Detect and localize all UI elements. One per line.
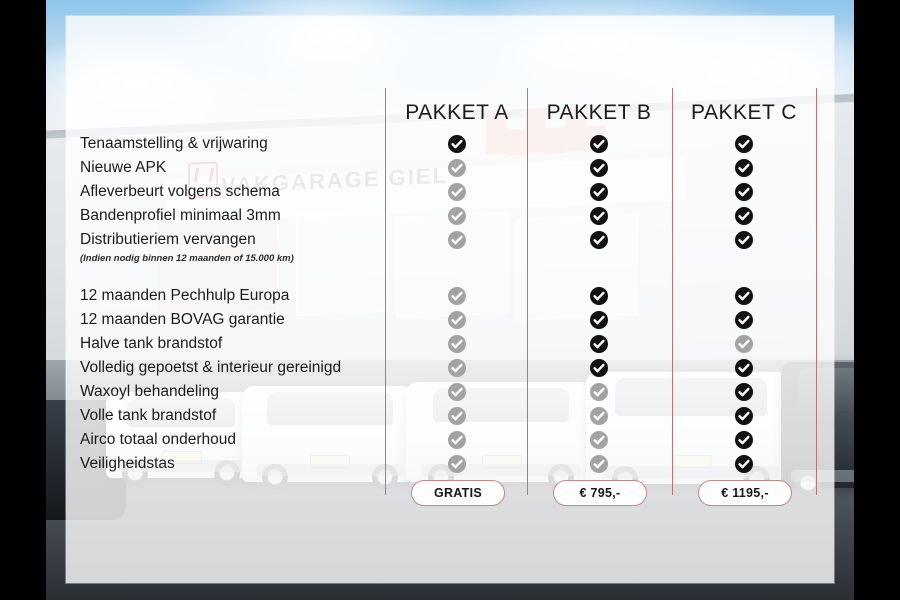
check-cell — [386, 332, 528, 356]
price-badge-pakket-b[interactable]: € 795,- — [553, 480, 647, 506]
check-cell — [673, 380, 815, 404]
spacer — [386, 265, 528, 284]
check-column-pakket-c — [673, 132, 815, 476]
spacer — [673, 252, 815, 265]
check-cell — [673, 180, 815, 204]
letterbox-right — [854, 0, 900, 600]
check-excluded-icon — [448, 431, 466, 449]
check-included-icon — [590, 231, 608, 249]
check-included-icon — [735, 159, 753, 177]
feature-label: Distributieriem vervangen — [80, 228, 380, 252]
check-cell — [673, 156, 815, 180]
check-excluded-icon — [590, 383, 608, 401]
check-cell — [673, 404, 815, 428]
check-excluded-icon — [448, 407, 466, 425]
check-excluded-icon — [448, 159, 466, 177]
check-excluded-icon — [735, 335, 753, 353]
check-cell — [528, 428, 670, 452]
check-excluded-icon — [448, 383, 466, 401]
check-cell — [528, 380, 670, 404]
check-included-icon — [590, 135, 608, 153]
spacer — [80, 265, 380, 284]
check-excluded-icon — [448, 287, 466, 305]
check-cell — [528, 180, 670, 204]
check-cell — [673, 308, 815, 332]
check-excluded-icon — [590, 407, 608, 425]
check-column-pakket-a — [386, 132, 528, 476]
column-divider — [816, 88, 817, 495]
feature-label: 12 maanden BOVAG garantie — [80, 308, 380, 332]
price-badge-pakket-c[interactable]: € 1195,- — [698, 480, 792, 506]
feature-label: Afleverbeurt volgens schema — [80, 180, 380, 204]
check-included-icon — [735, 311, 753, 329]
feature-label: Airco totaal onderhoud — [80, 428, 380, 452]
pricing-table-card: PAKKET A PAKKET B PAKKET C Tenaamstellin… — [66, 16, 834, 583]
check-cell — [528, 404, 670, 428]
spacer — [528, 265, 670, 284]
spacer — [673, 265, 815, 284]
check-cell — [386, 404, 528, 428]
check-excluded-icon — [448, 183, 466, 201]
check-cell — [673, 284, 815, 308]
check-cell — [673, 204, 815, 228]
column-header-pakket-c: PAKKET C — [673, 101, 815, 125]
check-included-icon — [735, 207, 753, 225]
check-cell — [386, 452, 528, 476]
check-included-icon — [735, 407, 753, 425]
feature-label: Waxoyl behandeling — [80, 380, 380, 404]
check-cell — [528, 204, 670, 228]
check-included-icon — [735, 431, 753, 449]
check-cell — [673, 228, 815, 252]
spacer — [386, 252, 528, 265]
check-cell — [528, 156, 670, 180]
check-cell — [386, 380, 528, 404]
check-column-pakket-b — [528, 132, 670, 476]
check-cell — [528, 228, 670, 252]
check-excluded-icon — [448, 231, 466, 249]
feature-label-note: (Indien nodig binnen 12 maanden of 15.00… — [80, 252, 380, 265]
check-cell — [528, 452, 670, 476]
check-excluded-icon — [448, 359, 466, 377]
column-header-pakket-a: PAKKET A — [386, 101, 528, 125]
check-excluded-icon — [448, 335, 466, 353]
check-included-icon — [590, 207, 608, 225]
feature-label: Nieuwe APK — [80, 156, 380, 180]
check-included-icon — [735, 287, 753, 305]
check-cell — [386, 180, 528, 204]
check-cell — [386, 428, 528, 452]
check-cell — [386, 284, 528, 308]
check-cell — [673, 428, 815, 452]
check-included-icon — [735, 135, 753, 153]
check-included-icon — [590, 159, 608, 177]
check-excluded-icon — [448, 311, 466, 329]
check-cell — [386, 308, 528, 332]
check-included-icon — [590, 335, 608, 353]
check-included-icon — [448, 135, 466, 153]
check-cell — [673, 132, 815, 156]
check-cell — [528, 284, 670, 308]
check-cell — [673, 356, 815, 380]
check-cell — [528, 132, 670, 156]
check-included-icon — [735, 455, 753, 473]
check-included-icon — [735, 359, 753, 377]
column-header-pakket-b: PAKKET B — [528, 101, 670, 125]
check-included-icon — [735, 183, 753, 201]
price-badge-pakket-a[interactable]: GRATIS — [411, 480, 505, 506]
feature-label: Volledig gepoetst & interieur gereinigd — [80, 356, 380, 380]
screenshot-stage: VAKGARAGE GIEL — [0, 0, 900, 600]
check-excluded-icon — [448, 455, 466, 473]
check-cell — [528, 308, 670, 332]
feature-label: Bandenprofiel minimaal 3mm — [80, 204, 380, 228]
check-cell — [386, 356, 528, 380]
package-comparison-table: PAKKET A PAKKET B PAKKET C Tenaamstellin… — [66, 16, 834, 583]
feature-label: Volle tank brandstof — [80, 404, 380, 428]
check-excluded-icon — [448, 207, 466, 225]
spacer — [528, 252, 670, 265]
check-included-icon — [590, 183, 608, 201]
check-included-icon — [590, 287, 608, 305]
check-excluded-icon — [590, 431, 608, 449]
check-cell — [528, 332, 670, 356]
feature-label: Veiligheidstas — [80, 452, 380, 476]
feature-label-column: Tenaamstelling & vrijwaringNieuwe APKAfl… — [80, 132, 380, 476]
check-cell — [386, 228, 528, 252]
letterbox-left — [0, 0, 46, 600]
check-cell — [528, 356, 670, 380]
check-cell — [386, 204, 528, 228]
check-cell — [673, 452, 815, 476]
feature-label: Halve tank brandstof — [80, 332, 380, 356]
check-included-icon — [590, 311, 608, 329]
feature-label: Tenaamstelling & vrijwaring — [80, 132, 380, 156]
check-cell — [386, 156, 528, 180]
check-cell — [386, 132, 528, 156]
check-included-icon — [735, 231, 753, 249]
check-cell — [673, 332, 815, 356]
feature-label: 12 maanden Pechhulp Europa — [80, 284, 380, 308]
check-excluded-icon — [590, 455, 608, 473]
check-included-icon — [590, 359, 608, 377]
check-included-icon — [735, 383, 753, 401]
